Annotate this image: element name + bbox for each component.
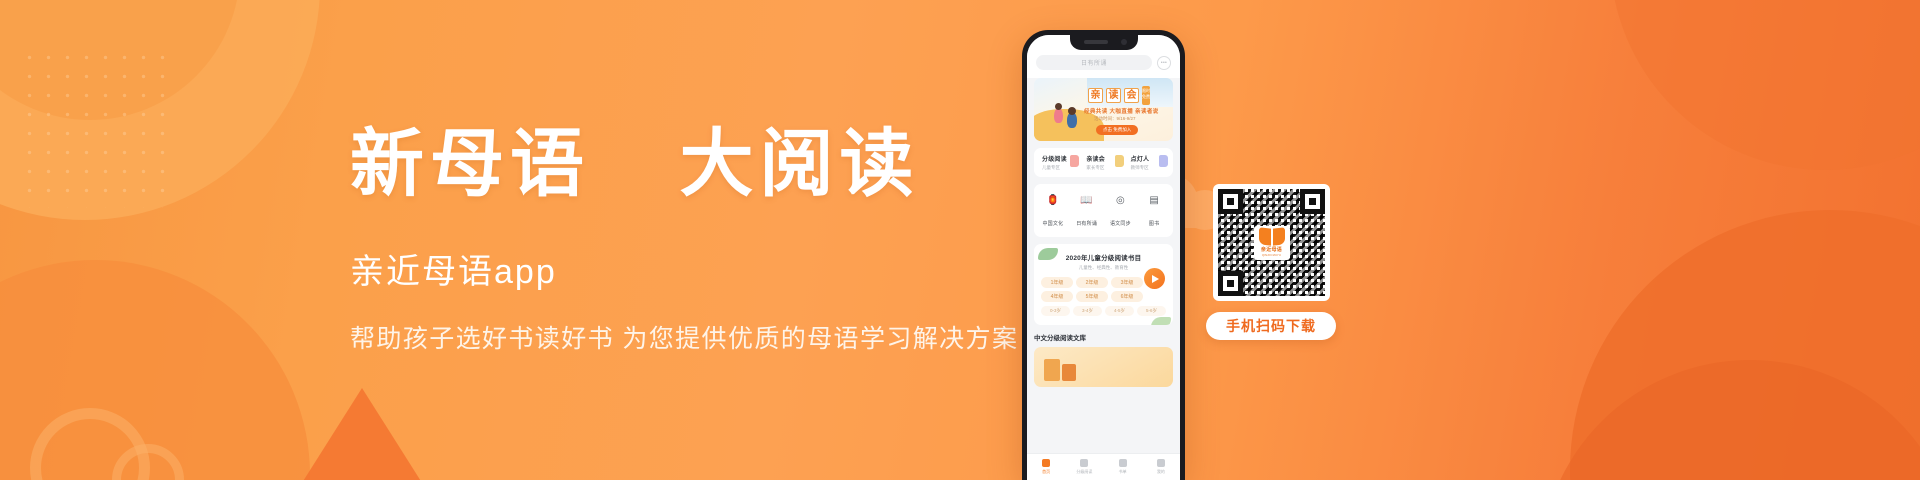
- promo-join-button[interactable]: 点击 免费加入: [1096, 125, 1138, 135]
- sync-icon: ◎: [1113, 193, 1128, 208]
- play-video-button[interactable]: [1144, 268, 1165, 289]
- grade-chip[interactable]: 1年级: [1041, 277, 1073, 288]
- grade-chip[interactable]: 2年级: [1076, 277, 1108, 288]
- banner-copy: 新母语 大阅读 亲近母语app 帮助孩子选好书读好书 为您提供优质的母语学习解决…: [350, 0, 1018, 480]
- age-chip-group: 0-3岁 3-4岁 4-5岁 5-6岁: [1041, 306, 1166, 316]
- grade-chip-group: 1年级 2年级 3年级 4年级 5年级 6年级: [1041, 277, 1145, 302]
- headline-part-2: 大阅读: [680, 121, 920, 207]
- open-book-icon: [1259, 228, 1285, 245]
- quick-icon-books[interactable]: ▤ 图书: [1137, 193, 1171, 230]
- promo-title-char-2: 读: [1106, 88, 1121, 103]
- page-title: 新母语 大阅读: [350, 125, 1018, 205]
- nav-item-graded-reading[interactable]: 分级阅读 儿童专区: [1037, 154, 1081, 171]
- home-icon: [1042, 459, 1050, 467]
- book-thumb-icon: [1159, 155, 1168, 167]
- list-icon: [1119, 459, 1127, 467]
- kid-illustration-1: [1054, 108, 1063, 123]
- search-input[interactable]: 日有所诵: [1036, 55, 1152, 70]
- nav-item-lamplighter[interactable]: 点灯人 教师专区: [1126, 154, 1170, 171]
- grade-chip[interactable]: 5年级: [1076, 291, 1108, 302]
- phone-mockup: 日有所诵 ••• 亲 读 会 限时免费 经典共读 大咖直播 亲读者说 活动时间：…: [1022, 30, 1185, 480]
- tab-mine[interactable]: 我的: [1142, 454, 1180, 480]
- promo-banner: 新母语 大阅读 亲近母语app 帮助孩子选好书读好书 为您提供优质的母语学习解决…: [0, 0, 1920, 480]
- book-cover-2: [1062, 364, 1076, 381]
- promo-time: 活动时间：9/16-9/27: [1094, 116, 1136, 122]
- promo-title: 亲 读 会: [1088, 88, 1139, 103]
- book-icon: ▤: [1147, 193, 1162, 208]
- tab-graded-reading[interactable]: 分级阅读: [1065, 454, 1103, 480]
- qr-center-logo: 亲近母语 QINJIN MUYU: [1254, 226, 1290, 260]
- promo-title-char-1: 亲: [1088, 88, 1103, 103]
- qr-finder-top-left: [1218, 189, 1243, 214]
- tab-booklist[interactable]: 书单: [1104, 454, 1142, 480]
- age-chip[interactable]: 5-6岁: [1137, 306, 1166, 316]
- background-blob-bottom-right-2: [1540, 360, 1920, 480]
- book-open-icon: 📖: [1079, 193, 1094, 208]
- booklist-card: 2020年儿童分级阅读书目 儿童性、经典性、教育性 1年级 2年级 3年级 4年…: [1034, 244, 1173, 325]
- booklist-title: 2020年儿童分级阅读书目: [1041, 252, 1166, 262]
- quick-icon-label: 图书: [1149, 221, 1159, 227]
- download-button-label: 手机扫码下载: [1226, 316, 1316, 336]
- book-cover-1: [1044, 359, 1060, 381]
- promo-title-char-3: 会: [1124, 88, 1139, 103]
- banner-tagline: 帮助孩子选好书读好书 为您提供优质的母语学习解决方案: [350, 319, 1018, 355]
- promo-vertical-tag: 限时免费: [1142, 86, 1150, 105]
- quick-icon-label: 日有所诵: [1076, 221, 1097, 227]
- logo-cn-text: 亲近母语: [1261, 246, 1282, 253]
- user-icon: [1157, 459, 1165, 467]
- search-placeholder: 日有所诵: [1081, 58, 1107, 67]
- play-icon: [1152, 275, 1159, 283]
- lantern-icon: 🏮: [1045, 193, 1060, 208]
- qr-finder-top-right: [1300, 189, 1325, 214]
- tab-label: 书单: [1119, 469, 1127, 475]
- grade-chip[interactable]: 6年级: [1111, 291, 1143, 302]
- book-thumb-icon: [1115, 155, 1124, 167]
- reading-icon: [1080, 459, 1088, 467]
- promo-subtitle: 经典共读 大咖直播 亲读者说: [1084, 107, 1159, 115]
- app-tabbar: 首页 分级阅读 书单 我的: [1027, 453, 1180, 480]
- quick-icon-label: 语文同步: [1110, 221, 1131, 227]
- grade-chip[interactable]: 3年级: [1111, 277, 1143, 288]
- quick-icon-textbook-sync[interactable]: ◎ 语文同步: [1104, 193, 1138, 230]
- app-category-nav: 分级阅读 儿童专区 亲读会 家长专区 点灯人 教师专区: [1034, 148, 1173, 177]
- qr-pattern: 亲近母语 QINJIN MUYU: [1218, 189, 1325, 296]
- promo-card[interactable]: 亲 读 会 限时免费 经典共读 大咖直播 亲读者说 活动时间：9/16-9/27…: [1034, 78, 1173, 141]
- headline-part-1: 新母语: [350, 121, 590, 207]
- grade-chip[interactable]: 4年级: [1041, 291, 1073, 302]
- leaf-decoration-2: [1151, 317, 1171, 325]
- qr-code[interactable]: 亲近母语 QINJIN MUYU: [1213, 184, 1330, 301]
- age-chip[interactable]: 3-4岁: [1073, 306, 1102, 316]
- phone-screen: 日有所诵 ••• 亲 读 会 限时免费 经典共读 大咖直播 亲读者说 活动时间：…: [1027, 35, 1180, 480]
- app-name-subtitle: 亲近母语app: [350, 244, 1018, 293]
- age-chip[interactable]: 4-5岁: [1105, 306, 1134, 316]
- logo-en-text: QINJIN MUYU: [1262, 254, 1281, 257]
- qr-finder-bottom-left: [1218, 271, 1243, 296]
- kid-illustration-2: [1067, 112, 1077, 128]
- book-thumb-icon: [1070, 155, 1079, 167]
- download-button[interactable]: 手机扫码下载: [1206, 312, 1336, 340]
- more-icon[interactable]: •••: [1157, 56, 1171, 70]
- quick-icon-chinese-culture[interactable]: 🏮 中国文化: [1036, 193, 1070, 230]
- quick-icon-label: 中国文化: [1042, 221, 1063, 227]
- library-section-title: 中文分级阅读文库: [1034, 332, 1173, 342]
- age-chip[interactable]: 0-3岁: [1041, 306, 1070, 316]
- quick-icon-daily-recitation[interactable]: 📖 日有所诵: [1070, 193, 1104, 230]
- background-blob-bottom-right: [1570, 210, 1920, 480]
- nav-item-reading-club[interactable]: 亲读会 家长专区: [1081, 154, 1125, 171]
- background-blob-top-right: [1610, 0, 1920, 170]
- tab-home[interactable]: 首页: [1027, 454, 1065, 480]
- quick-icon-grid: 🏮 中国文化 📖 日有所诵 ◎ 语文同步 ▤ 图书: [1034, 184, 1173, 237]
- library-card[interactable]: [1034, 347, 1173, 387]
- dot-grid-decoration: [20, 48, 168, 208]
- phone-notch: [1070, 35, 1138, 50]
- tab-label: 分级阅读: [1076, 469, 1092, 475]
- tab-label: 首页: [1042, 469, 1050, 475]
- tab-label: 我的: [1157, 469, 1165, 475]
